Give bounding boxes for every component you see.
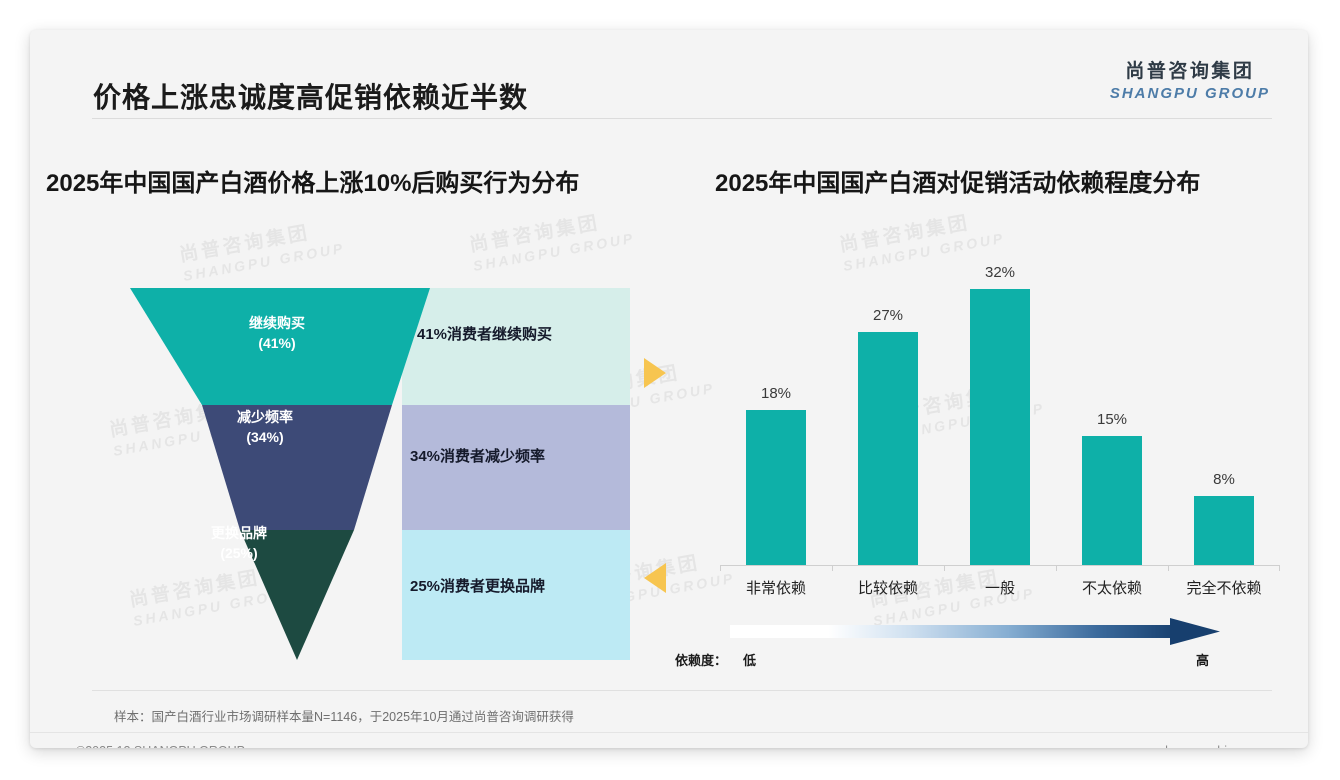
watermark-cn: 尚普咨询集团 [468, 206, 634, 258]
funnel-stage-3-name: 更换品牌 [211, 525, 267, 541]
funnel-band-text-3: 25%消费者更换品牌 [410, 575, 545, 596]
right-chart-title: 2025年中国国产白酒对促销活动依赖程度分布 [715, 163, 1200, 198]
footnote-divider [92, 690, 1272, 691]
bar-value-label: 32% [944, 264, 1056, 281]
footer-website[interactable]: www.shangpu-china.com [1129, 744, 1268, 748]
sample-footnote: 样本：国产白酒行业市场调研样本量N=1146，于2025年10月通过尚普咨询调研… [114, 706, 574, 725]
axis-tick [1056, 565, 1057, 571]
bar-column: 27% [832, 255, 944, 565]
bar-rect[interactable] [858, 332, 918, 565]
axis-tick [1279, 565, 1280, 571]
funnel-stage-3-pct: (25%) [220, 545, 257, 561]
bar-column: 18% [720, 255, 832, 565]
bar-value-label: 27% [832, 307, 944, 324]
axis-tick [720, 565, 721, 571]
funnel-band-text-2: 34%消费者减少频率 [410, 445, 545, 466]
page-title: 价格上涨忠诚度高促销依赖近半数 [93, 76, 528, 116]
funnel-band-2 [402, 405, 630, 530]
bar-column: 15% [1056, 255, 1168, 565]
brand-name-cn: 尚普咨询集团 [1110, 56, 1270, 83]
legend-high-label: 高 [1196, 650, 1209, 669]
funnel-stage-2-pct: (34%) [246, 429, 283, 445]
legend-low-label: 低 [743, 650, 756, 669]
x-axis-category-label: 不太依赖 [1056, 577, 1168, 598]
brand-logo: 尚普咨询集团 SHANGPU GROUP [1110, 56, 1270, 102]
funnel-stage-2-name: 减少频率 [237, 409, 293, 425]
bar-plot-area: 18% 27% 32% 15% 8% [720, 255, 1280, 565]
bar-column: 32% [944, 255, 1056, 565]
legend-title: 依赖度： [675, 650, 727, 669]
funnel-stage-1-pct: (41%) [258, 335, 295, 351]
dependency-bar-chart: 18% 27% 32% 15% 8% [720, 255, 1280, 595]
bar-value-label: 8% [1168, 471, 1280, 488]
funnel-band-1 [402, 288, 630, 405]
triangle-left-icon [644, 563, 666, 593]
gradient-arrow-icon [730, 618, 1220, 646]
dependency-gradient-legend: 依赖度： 低 高 [675, 618, 1275, 680]
funnel-chart: 继续购买 (41%) 减少频率 (34%) 更换品牌 (25%) 41%消费者继… [92, 255, 672, 670]
bar-rect[interactable] [1194, 496, 1254, 565]
footer-copyright: ©2025.12 SHANGPU GROUP [76, 744, 245, 748]
funnel-stage-label-1: 继续购买 (41%) [212, 313, 342, 354]
header-divider [92, 118, 1272, 119]
bar-rect[interactable] [970, 289, 1030, 565]
bar-value-label: 18% [720, 385, 832, 402]
slide-card: 尚普咨询集团 SHANGPU GROUP 尚普咨询集团 SHANGPU GROU… [30, 30, 1308, 748]
funnel-band-text-1: 41%消费者继续购买 [417, 323, 552, 344]
funnel-stage-1-name: 继续购买 [249, 315, 305, 331]
axis-tick [1168, 565, 1169, 571]
x-axis-category-label: 比较依赖 [832, 577, 944, 598]
funnel-stage-label-2: 减少频率 (34%) [200, 407, 330, 448]
funnel-svg [92, 255, 672, 670]
triangle-right-icon [644, 358, 666, 388]
x-axis-line [720, 565, 1280, 566]
bar-rect[interactable] [746, 410, 806, 565]
bar-value-label: 15% [1056, 411, 1168, 428]
funnel-stage-label-3: 更换品牌 (25%) [184, 523, 294, 564]
x-axis-category-label: 非常依赖 [720, 577, 832, 598]
brand-name-en: SHANGPU GROUP [1110, 85, 1270, 102]
x-axis-category-label: 一般 [944, 577, 1056, 598]
watermark-cn: 尚普咨询集团 [838, 206, 1004, 258]
bar-column: 8% [1168, 255, 1280, 565]
footer-divider [30, 732, 1308, 733]
bar-rect[interactable] [1082, 436, 1142, 565]
x-axis-category-label: 完全不依赖 [1168, 577, 1280, 598]
axis-tick [944, 565, 945, 571]
left-chart-title: 2025年中国国产白酒价格上涨10%后购买行为分布 [46, 163, 579, 198]
axis-tick [832, 565, 833, 571]
slide-header: 价格上涨忠诚度高促销依赖近半数 尚普咨询集团 SHANGPU GROUP [30, 30, 1308, 118]
